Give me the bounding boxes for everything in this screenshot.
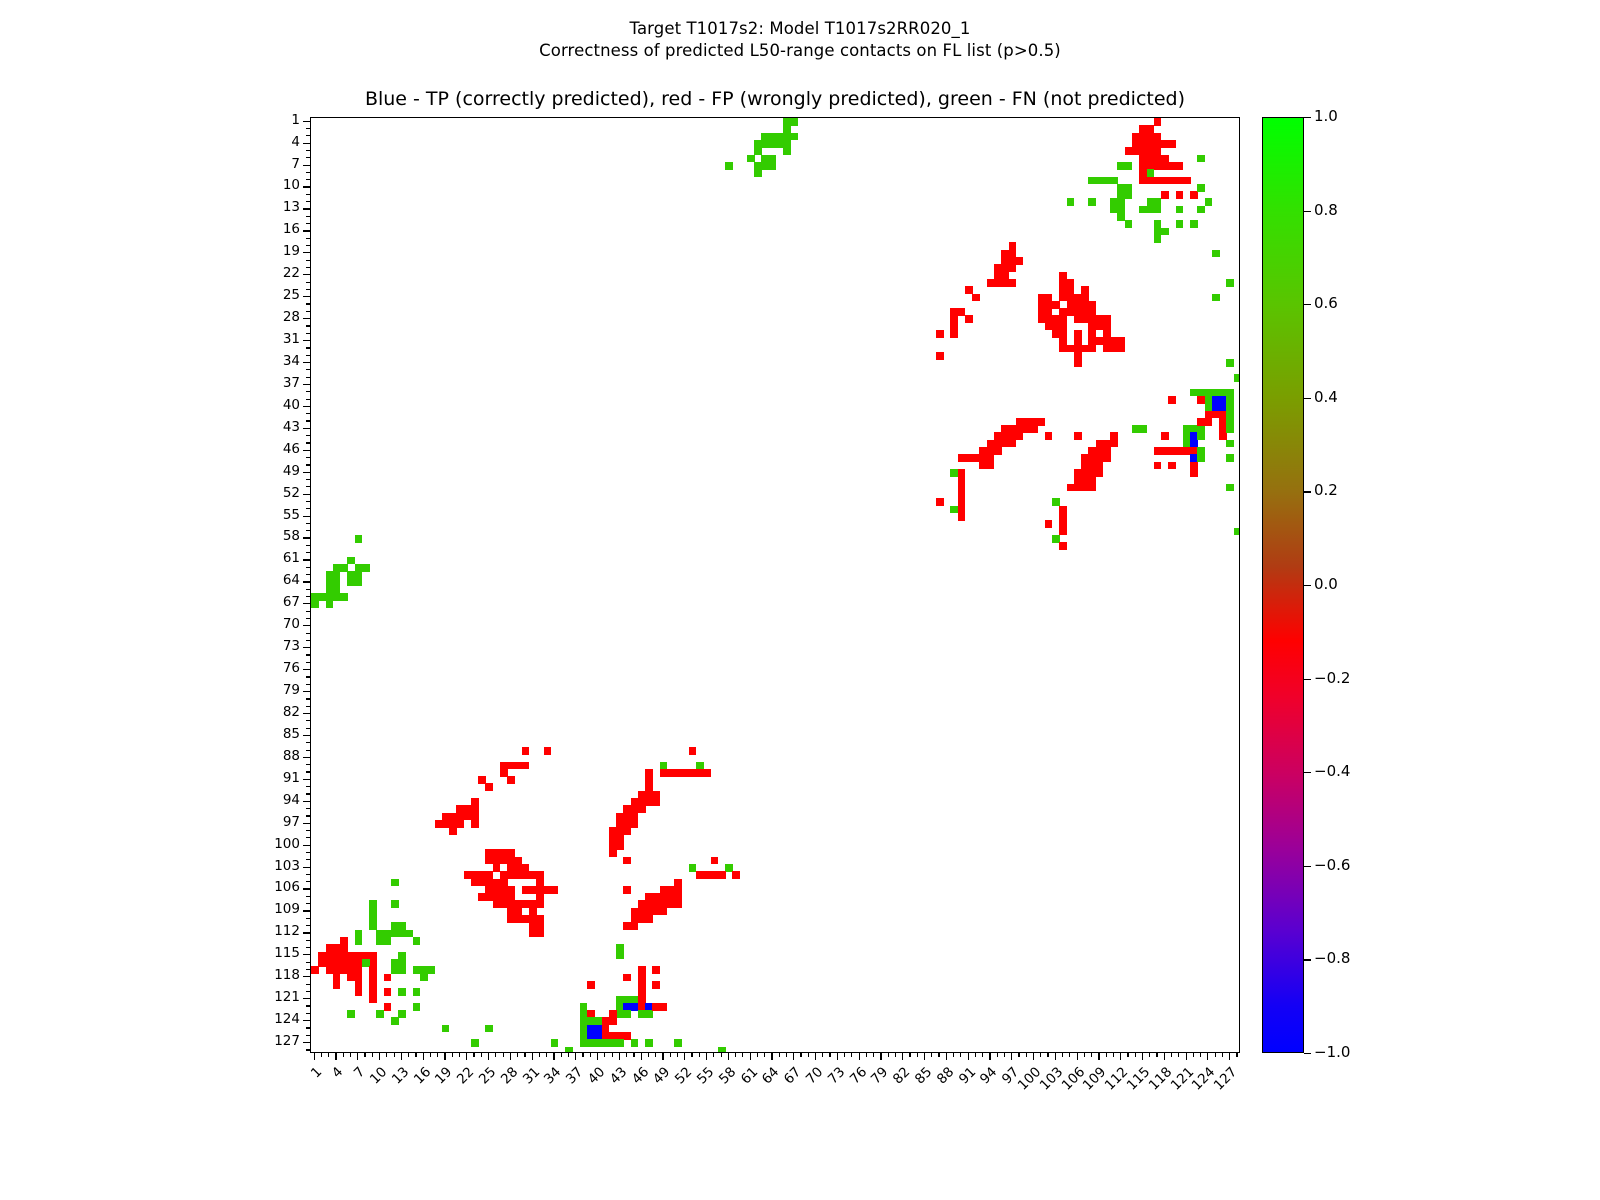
x-major-tick	[1120, 1053, 1121, 1060]
x-minor-tick	[1178, 1053, 1179, 1057]
contact-cell	[1168, 462, 1176, 470]
y-tick-label: 85	[248, 726, 300, 742]
y-major-tick	[303, 888, 310, 889]
contact-cell	[1161, 432, 1169, 440]
x-minor-tick	[568, 1053, 569, 1057]
contact-cell	[1074, 359, 1082, 367]
contact-cell	[623, 1010, 631, 1018]
contact-cell	[1226, 484, 1234, 492]
contact-cell	[972, 294, 980, 302]
x-minor-tick	[670, 1053, 671, 1057]
y-major-tick	[303, 867, 310, 868]
contact-cell	[340, 593, 348, 601]
y-major-tick	[303, 121, 310, 122]
y-minor-tick	[306, 698, 310, 699]
colorbar-gradient	[1262, 117, 1304, 1053]
x-minor-tick	[764, 1053, 765, 1057]
x-major-tick	[1186, 1053, 1187, 1060]
y-major-tick	[303, 186, 310, 187]
x-minor-tick	[546, 1053, 547, 1057]
colorbar-tick-label: −0.6	[1314, 856, 1350, 874]
contact-cell	[718, 871, 726, 879]
contact-cell	[551, 1039, 559, 1047]
y-minor-tick	[306, 918, 310, 919]
x-major-tick	[1207, 1053, 1208, 1060]
x-major-tick	[1011, 1053, 1012, 1060]
x-minor-tick	[394, 1053, 395, 1057]
contact-cell	[326, 601, 334, 609]
contact-cell	[1197, 155, 1205, 163]
contact-cell	[987, 462, 995, 470]
contact-cell	[1096, 469, 1104, 477]
y-major-tick	[303, 384, 310, 385]
x-major-tick	[553, 1053, 554, 1060]
x-minor-tick	[822, 1053, 823, 1057]
y-minor-tick	[306, 969, 310, 970]
contact-cell	[311, 601, 319, 609]
contact-cell	[747, 155, 755, 163]
y-tick-label: 97	[248, 814, 300, 830]
y-minor-tick	[306, 1005, 310, 1006]
contact-cell	[413, 1003, 421, 1011]
x-minor-tick	[691, 1053, 692, 1057]
contact-cell	[950, 330, 958, 338]
contact-cell	[623, 974, 631, 982]
x-major-tick	[837, 1053, 838, 1060]
x-minor-tick	[452, 1053, 453, 1057]
contact-cell	[355, 535, 363, 543]
contact-cell	[449, 827, 457, 835]
x-minor-tick	[1113, 1053, 1114, 1057]
x-minor-tick	[364, 1053, 365, 1057]
x-major-tick	[1055, 1053, 1056, 1060]
x-minor-tick	[437, 1053, 438, 1057]
contact-cell	[1125, 162, 1133, 170]
contact-cell	[1030, 425, 1038, 433]
x-minor-tick	[561, 1053, 562, 1057]
x-major-tick	[532, 1053, 533, 1060]
colorbar-tick-label: 1.0	[1314, 107, 1338, 125]
x-major-tick	[946, 1053, 947, 1060]
y-minor-tick	[306, 435, 310, 436]
contact-cell	[1234, 528, 1240, 536]
contact-cell	[1045, 432, 1053, 440]
contact-cell	[652, 798, 660, 806]
contact-cell	[507, 776, 515, 784]
x-minor-tick	[938, 1053, 939, 1057]
contact-cell	[391, 879, 399, 887]
y-major-tick	[303, 801, 310, 802]
contact-cell	[958, 513, 966, 521]
y-tick-label: 7	[248, 156, 300, 172]
y-minor-tick	[306, 523, 310, 524]
colorbar-tick-label: 0.6	[1314, 294, 1338, 312]
x-minor-tick	[328, 1053, 329, 1057]
x-minor-tick	[742, 1053, 743, 1057]
x-minor-tick	[481, 1053, 482, 1057]
x-minor-tick	[590, 1053, 591, 1057]
x-minor-tick	[721, 1053, 722, 1057]
colorbar-tick-label: 0.2	[1314, 481, 1338, 499]
contact-cell	[1190, 191, 1198, 199]
contact-cell	[384, 988, 392, 996]
contact-cell	[1117, 345, 1125, 353]
contact-cell	[1176, 206, 1184, 214]
y-minor-tick	[306, 706, 310, 707]
x-minor-tick	[1047, 1053, 1048, 1057]
y-minor-tick	[306, 1049, 310, 1050]
contact-cell	[1009, 440, 1017, 448]
colorbar-tick	[1304, 304, 1311, 305]
y-minor-tick	[306, 728, 310, 729]
y-tick-label: 37	[248, 375, 300, 391]
contact-cell	[638, 805, 646, 813]
y-minor-tick	[306, 567, 310, 568]
y-tick-label: 61	[248, 550, 300, 566]
contact-cell	[1212, 294, 1220, 302]
y-minor-tick	[306, 676, 310, 677]
contact-cell	[1088, 198, 1096, 206]
y-major-tick	[303, 1042, 310, 1043]
y-major-tick	[303, 581, 310, 582]
y-minor-tick	[306, 442, 310, 443]
y-tick-label: 127	[248, 1033, 300, 1049]
x-minor-tick	[495, 1053, 496, 1057]
y-minor-tick	[306, 940, 310, 941]
contact-cell	[551, 886, 559, 894]
figure-title-line-1: Target T1017s2: Model T1017s2RR020_1	[0, 18, 1600, 40]
y-major-tick	[303, 625, 310, 626]
y-minor-tick	[306, 640, 310, 641]
y-minor-tick	[306, 179, 310, 180]
contact-cell	[1117, 213, 1125, 221]
y-major-tick	[303, 603, 310, 604]
contact-cell	[355, 579, 363, 587]
contact-cell	[616, 952, 624, 960]
contact-cell	[1154, 177, 1162, 185]
x-minor-tick	[917, 1053, 918, 1057]
y-minor-tick	[306, 282, 310, 283]
contact-cell	[362, 564, 370, 572]
y-major-tick	[303, 669, 310, 670]
y-minor-tick	[306, 984, 310, 985]
contact-cell	[703, 769, 711, 777]
contact-cell	[950, 308, 958, 316]
y-major-tick	[303, 998, 310, 999]
contact-cell	[369, 966, 377, 974]
y-tick-label: 67	[248, 594, 300, 610]
x-minor-tick	[524, 1053, 525, 1057]
x-minor-tick	[1091, 1053, 1092, 1057]
y-major-tick	[303, 845, 310, 846]
x-major-tick	[902, 1053, 903, 1060]
x-minor-tick	[1084, 1053, 1085, 1057]
x-minor-tick	[350, 1053, 351, 1057]
x-major-tick	[335, 1053, 336, 1060]
y-tick-label: 13	[248, 199, 300, 215]
y-major-tick	[303, 713, 310, 714]
x-minor-tick	[1069, 1053, 1070, 1057]
x-minor-tick	[604, 1053, 605, 1057]
contact-cell	[1096, 177, 1104, 185]
contact-cell	[384, 937, 392, 945]
y-tick-label: 34	[248, 353, 300, 369]
x-major-tick	[1098, 1053, 1099, 1060]
contact-cell	[587, 981, 595, 989]
contact-cell	[965, 315, 973, 323]
y-minor-tick	[306, 589, 310, 590]
y-minor-tick	[306, 925, 310, 926]
y-tick-label: 100	[248, 836, 300, 852]
x-minor-tick	[612, 1053, 613, 1057]
y-tick-label: 31	[248, 331, 300, 347]
y-tick-label: 109	[248, 901, 300, 917]
x-major-tick	[728, 1053, 729, 1060]
contact-cell	[456, 820, 464, 828]
contact-cell	[783, 147, 791, 155]
y-minor-tick	[306, 947, 310, 948]
contact-cell	[1009, 279, 1017, 287]
contact-cell	[536, 900, 544, 908]
x-minor-tick	[343, 1053, 344, 1057]
contact-cell	[369, 908, 377, 916]
contact-cell	[1125, 191, 1133, 199]
y-tick-label: 112	[248, 923, 300, 939]
x-minor-tick	[808, 1053, 809, 1057]
y-minor-tick	[306, 369, 310, 370]
x-major-tick	[880, 1053, 881, 1060]
y-minor-tick	[306, 611, 310, 612]
contact-cell	[645, 1010, 653, 1018]
contact-cell	[1168, 140, 1176, 148]
y-minor-tick	[306, 530, 310, 531]
y-minor-tick	[306, 764, 310, 765]
y-minor-tick	[306, 391, 310, 392]
colorbar-tick-label: −1.0	[1314, 1043, 1350, 1061]
x-major-tick	[706, 1053, 707, 1060]
contact-cell	[355, 988, 363, 996]
y-minor-tick	[306, 596, 310, 597]
y-minor-tick	[306, 355, 310, 356]
y-minor-tick	[306, 479, 310, 480]
figure-title-block: Target T1017s2: Model T1017s2RR020_1 Cor…	[0, 18, 1600, 63]
contact-cell	[1212, 250, 1220, 258]
contact-cell	[1197, 206, 1205, 214]
y-tick-label: 115	[248, 945, 300, 961]
contact-cell	[1161, 228, 1169, 236]
x-minor-tick	[1026, 1053, 1027, 1057]
y-minor-tick	[306, 552, 310, 553]
x-minor-tick	[1193, 1053, 1194, 1057]
contact-cell	[1059, 528, 1067, 536]
y-major-tick	[303, 165, 310, 166]
y-minor-tick	[306, 633, 310, 634]
x-minor-tick	[713, 1053, 714, 1057]
x-minor-tick	[895, 1053, 896, 1057]
y-minor-tick	[306, 260, 310, 261]
contact-cell	[623, 857, 631, 865]
contact-cell	[631, 922, 639, 930]
contact-cell	[391, 1017, 399, 1025]
contact-cell	[994, 447, 1002, 455]
contact-cell	[652, 981, 660, 989]
contact-cell	[645, 915, 653, 923]
x-major-tick	[314, 1053, 315, 1060]
contact-cell-layer	[311, 118, 1239, 1052]
contact-cell	[1190, 469, 1198, 477]
contact-cell	[674, 900, 682, 908]
y-minor-tick	[306, 793, 310, 794]
y-minor-tick	[306, 333, 310, 334]
y-minor-tick	[306, 267, 310, 268]
contact-cell	[355, 981, 363, 989]
y-major-tick	[303, 954, 310, 955]
x-minor-tick	[1127, 1053, 1128, 1057]
y-major-tick	[303, 691, 310, 692]
y-tick-label: 88	[248, 748, 300, 764]
colorbar-tick-label: −0.2	[1314, 669, 1350, 687]
x-minor-tick	[997, 1053, 998, 1057]
y-minor-tick	[306, 413, 310, 414]
contact-cell	[936, 352, 944, 360]
y-minor-tick	[306, 750, 310, 751]
y-minor-tick	[306, 238, 310, 239]
x-minor-tick	[626, 1053, 627, 1057]
contact-cell	[718, 1047, 726, 1053]
y-minor-tick	[306, 808, 310, 809]
contact-cell	[725, 162, 733, 170]
y-major-tick	[303, 932, 310, 933]
contact-cell	[1161, 191, 1169, 199]
contact-cell	[376, 1010, 384, 1018]
x-major-tick	[641, 1053, 642, 1060]
contact-cell	[405, 930, 413, 938]
contact-map-plot-area[interactable]	[310, 117, 1240, 1053]
y-major-tick	[303, 472, 310, 473]
contact-cell	[616, 842, 624, 850]
y-minor-tick	[306, 991, 310, 992]
y-minor-tick	[306, 508, 310, 509]
contact-cell	[1205, 198, 1213, 206]
x-major-tick	[510, 1053, 511, 1060]
contact-cell	[1168, 177, 1176, 185]
x-minor-tick	[953, 1053, 954, 1057]
y-minor-tick	[306, 216, 310, 217]
contact-cell	[1226, 279, 1234, 287]
contact-cell	[398, 988, 406, 996]
contact-cell	[1205, 418, 1213, 426]
contact-cell	[1226, 359, 1234, 367]
colorbar-tick-label: 0.0	[1314, 575, 1338, 593]
contact-cell	[732, 871, 740, 879]
contact-cell	[609, 1017, 617, 1025]
y-tick-label: 103	[248, 858, 300, 874]
contact-cell	[1154, 462, 1162, 470]
contact-cell	[660, 908, 668, 916]
y-major-tick	[303, 735, 310, 736]
x-major-tick	[1164, 1053, 1165, 1060]
y-minor-tick	[306, 742, 310, 743]
x-minor-tick	[517, 1053, 518, 1057]
contact-cell	[936, 498, 944, 506]
x-minor-tick	[1236, 1053, 1237, 1057]
y-major-tick	[303, 450, 310, 451]
contact-cell	[1125, 220, 1133, 228]
y-major-tick	[303, 757, 310, 758]
contact-cell	[1154, 118, 1162, 126]
contact-cell	[1197, 184, 1205, 192]
y-minor-tick	[306, 815, 310, 816]
x-minor-tick	[866, 1053, 867, 1057]
y-major-tick	[303, 976, 310, 977]
y-minor-tick	[306, 881, 310, 882]
y-minor-tick	[306, 303, 310, 304]
contact-cell	[1154, 235, 1162, 243]
x-minor-tick	[1171, 1053, 1172, 1057]
x-minor-tick	[321, 1053, 322, 1057]
contact-cell	[485, 783, 493, 791]
x-minor-tick	[960, 1053, 961, 1057]
contact-cell	[623, 886, 631, 894]
x-major-tick	[444, 1053, 445, 1060]
y-tick-label: 40	[248, 397, 300, 413]
contact-cell	[1016, 257, 1024, 265]
x-minor-tick	[735, 1053, 736, 1057]
x-major-tick	[684, 1053, 685, 1060]
contact-cell	[609, 849, 617, 857]
y-minor-tick	[306, 245, 310, 246]
y-tick-label: 106	[248, 879, 300, 895]
contact-cell	[369, 981, 377, 989]
x-major-tick	[793, 1053, 794, 1060]
x-major-tick	[619, 1053, 620, 1060]
y-minor-tick	[306, 377, 310, 378]
x-minor-tick	[386, 1053, 387, 1057]
x-minor-tick	[844, 1053, 845, 1057]
contact-cell	[1226, 425, 1234, 433]
contact-cell	[471, 820, 479, 828]
x-major-tick	[401, 1053, 402, 1060]
y-tick-label: 16	[248, 221, 300, 237]
contact-cell	[1226, 440, 1234, 448]
contact-cell	[1176, 162, 1184, 170]
x-minor-tick	[677, 1053, 678, 1057]
contact-cell	[769, 162, 777, 170]
x-minor-tick	[503, 1053, 504, 1057]
y-minor-tick	[306, 289, 310, 290]
x-minor-tick	[1106, 1053, 1107, 1057]
y-major-tick	[303, 910, 310, 911]
y-minor-tick	[306, 837, 310, 838]
contact-cell	[347, 1010, 355, 1018]
x-minor-tick	[372, 1053, 373, 1057]
x-minor-tick	[648, 1053, 649, 1057]
contact-cell	[413, 937, 421, 945]
y-tick-label: 73	[248, 638, 300, 654]
x-minor-tick	[800, 1053, 801, 1057]
colorbar-tick-label: −0.8	[1314, 949, 1350, 967]
contact-cell	[1110, 440, 1118, 448]
colorbar-tick	[1304, 1053, 1311, 1054]
y-minor-tick	[306, 486, 310, 487]
contact-cell	[1016, 432, 1024, 440]
y-minor-tick	[306, 1035, 310, 1036]
contact-cell	[1038, 418, 1046, 426]
y-minor-tick	[306, 786, 310, 787]
x-minor-tick	[699, 1053, 700, 1057]
y-minor-tick	[306, 1027, 310, 1028]
y-major-tick	[303, 318, 310, 319]
